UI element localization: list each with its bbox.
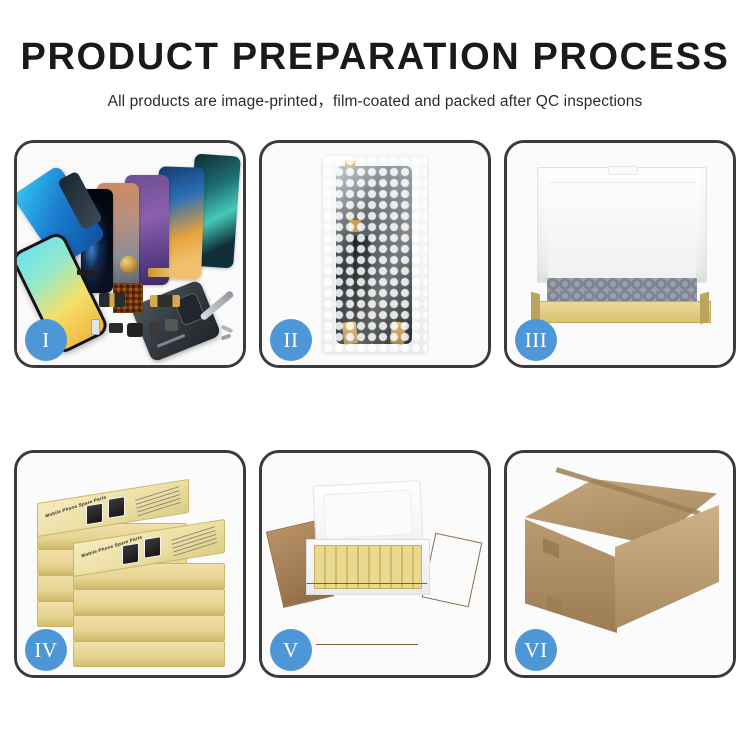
carton-left-face [525, 519, 617, 633]
speaker-component-icon [120, 256, 137, 273]
small-part-1 [109, 323, 123, 333]
foam-lid-panel [537, 167, 707, 283]
process-step-4: Mobile Phone Spare Parts Mobile Phone Sp… [14, 450, 246, 678]
stacked-box-f3 [73, 615, 225, 641]
process-steps-grid: I II [14, 140, 736, 678]
yellow-boxes-inside [314, 545, 422, 589]
box-label-spec-lines-rear [135, 483, 182, 516]
box-label-window-a [86, 503, 103, 526]
step-badge-5: V [270, 629, 312, 671]
flex-cable-a [99, 293, 125, 307]
foam-box-lid-open [312, 480, 423, 548]
page-title: PRODUCT PREPARATION PROCESS [0, 38, 750, 78]
carton-flap-right [422, 533, 483, 608]
product-preparation-infographic: PRODUCT PREPARATION PROCESS All products… [0, 0, 750, 750]
header: PRODUCT PREPARATION PROCESS All products… [0, 0, 750, 111]
process-step-2: II [259, 140, 491, 368]
box-label-spec-lines-front [171, 523, 218, 556]
flex-cable-c [148, 268, 172, 277]
box-label-window-d [144, 536, 161, 559]
process-step-6: VI [504, 450, 736, 678]
page-subtitle: All products are image-printed，film-coat… [0, 89, 750, 111]
step-badge-2: II [270, 319, 312, 361]
step-badge-4: IV [25, 629, 67, 671]
small-part-3 [149, 322, 160, 335]
battery-connector-part [77, 270, 99, 275]
plastic-sheen [323, 156, 427, 352]
step-badge-6: VI [515, 629, 557, 671]
box-label-window-c [122, 543, 139, 566]
process-step-5: V [259, 450, 491, 678]
box-label-window-b [108, 496, 125, 519]
process-step-3: III [504, 140, 736, 368]
flex-cable-b [150, 295, 180, 307]
process-step-1: I [14, 140, 246, 368]
step-badge-1: I [25, 319, 67, 361]
small-part-5 [165, 319, 178, 331]
small-part-2 [127, 323, 143, 337]
stacked-box-f4 [73, 589, 225, 615]
stacked-box-f2 [73, 641, 225, 667]
carton-body [300, 583, 434, 645]
step-badge-3: III [515, 319, 557, 361]
bubble-wrap-package [323, 156, 427, 352]
kraft-box-front [533, 301, 711, 323]
kraft-box-side-right [700, 292, 709, 325]
small-part-4 [91, 319, 100, 335]
